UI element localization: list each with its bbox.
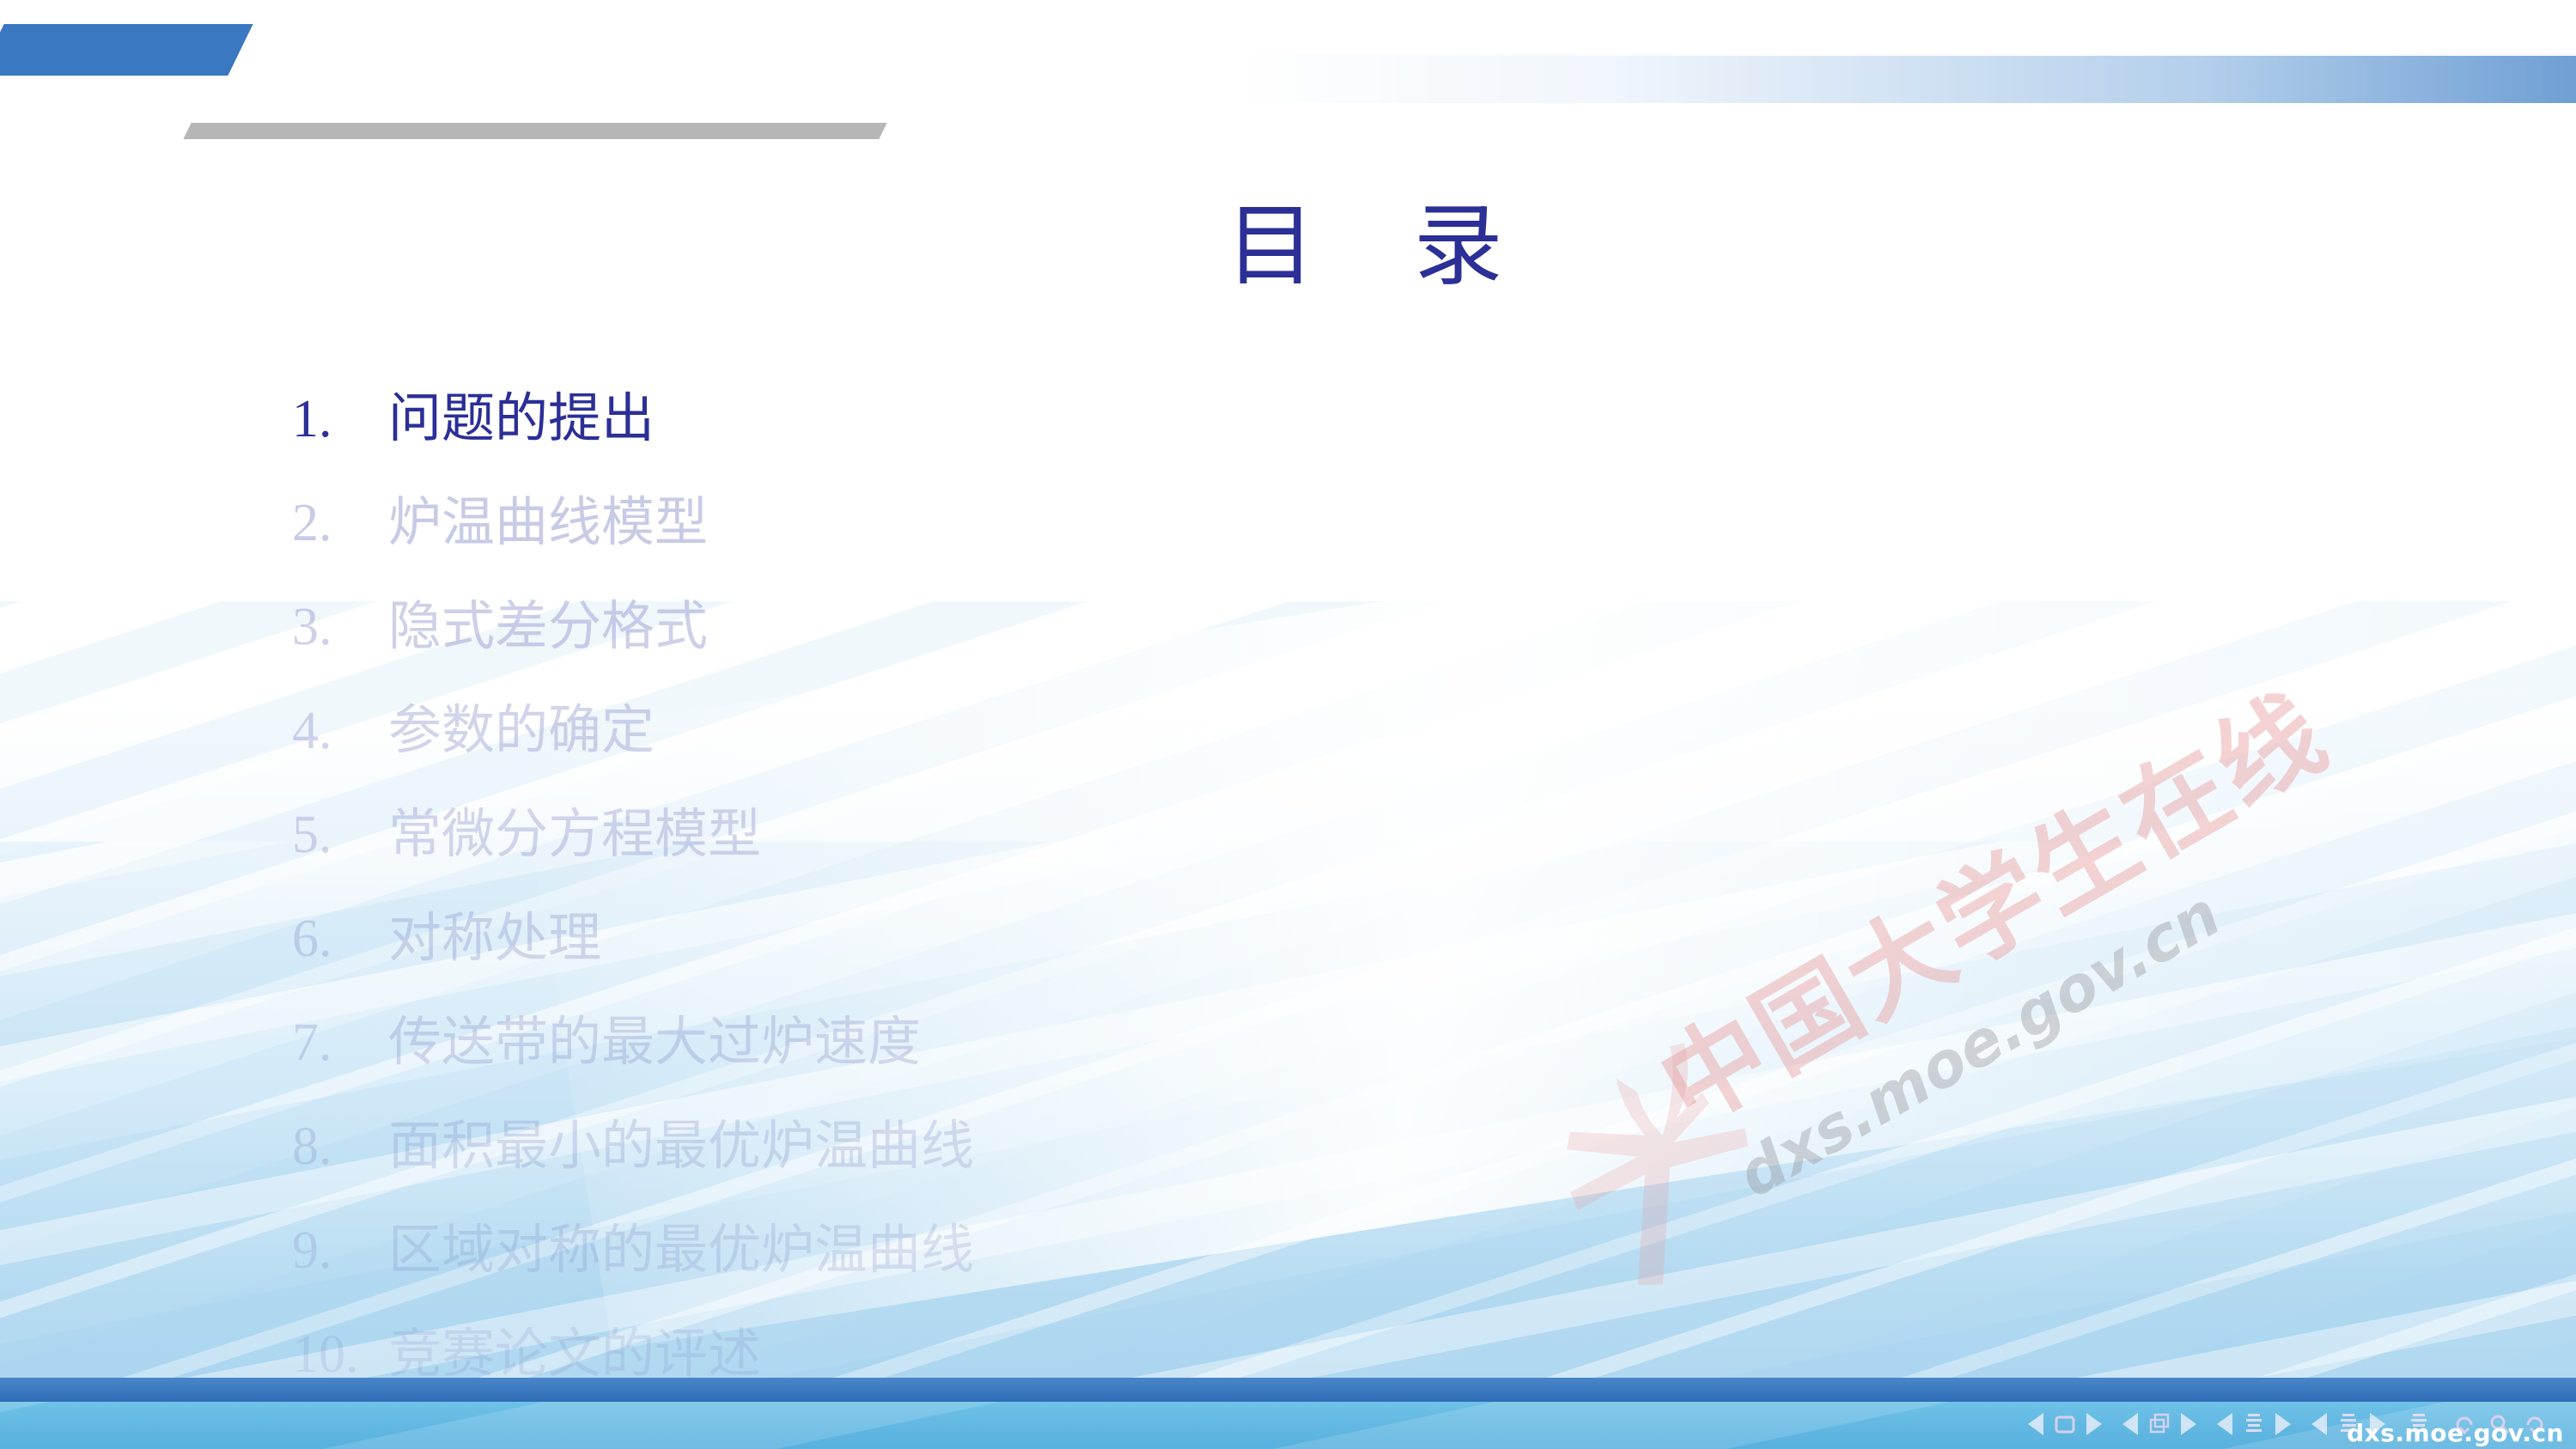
prev-slide-button[interactable]: [2028, 1413, 2043, 1435]
toc-item-6-label: 对称处理: [388, 887, 601, 991]
toc-item-7-label: 传送带的最大过炉速度: [388, 991, 921, 1095]
stacked-pages-icon[interactable]: [2147, 1411, 2172, 1437]
toc-item-8[interactable]: 8. 面积最小的最优炉温曲线: [292, 1095, 2182, 1199]
header-gray-bar: [183, 123, 886, 139]
toc-item-5[interactable]: 5. 常微分方程模型: [292, 783, 2182, 887]
toc-item-7[interactable]: 7. 传送带的最大过炉速度: [292, 991, 2182, 1095]
toc-item-2-number: 2.: [292, 472, 388, 575]
toc-item-5-number: 5.: [292, 783, 388, 887]
slide-nav-group: [2028, 1411, 2102, 1437]
toc-item-8-number: 8.: [292, 1095, 388, 1199]
toc-item-3-number: 3.: [292, 575, 388, 679]
toc-item-6[interactable]: 6. 对称处理: [292, 887, 2182, 991]
toc-item-5-label: 常微分方程模型: [388, 783, 761, 887]
toc-item-7-number: 7.: [292, 991, 388, 1095]
toc-item-3[interactable]: 3. 隐式差分格式: [292, 575, 2182, 679]
toc-item-4[interactable]: 4. 参数的确定: [292, 679, 2182, 783]
toc-item-9[interactable]: 9. 区域对称的最优炉温曲线: [292, 1199, 2182, 1303]
next-page-button[interactable]: [2181, 1413, 2196, 1435]
prev-outline-button[interactable]: [2217, 1413, 2232, 1435]
toc-item-4-number: 4.: [292, 679, 388, 783]
toc-item-4-label: 参数的确定: [388, 679, 655, 783]
outline-nav-group: [2217, 1411, 2291, 1437]
footer-url: dxs.moe.gov.cn: [2347, 1419, 2564, 1447]
toc-item-9-label: 区域对称的最优炉温曲线: [388, 1199, 974, 1303]
header-gradient-band: [1236, 53, 2576, 103]
toc-item-1[interactable]: 1. 问题的提出: [292, 368, 2182, 472]
page-nav-group: [2122, 1411, 2196, 1437]
outline-lines-icon[interactable]: [2241, 1411, 2267, 1437]
page-title: 目 录: [0, 203, 2576, 292]
toc-item-2[interactable]: 2. 炉温曲线模型: [292, 472, 2182, 575]
toc-item-2-label: 炉温曲线模型: [388, 472, 708, 575]
toc-item-3-label: 隐式差分格式: [388, 575, 708, 679]
next-outline-button[interactable]: [2275, 1413, 2291, 1435]
next-slide-button[interactable]: [2086, 1413, 2102, 1435]
toc-item-8-label: 面积最小的最优炉温曲线: [388, 1095, 974, 1199]
toc-item-1-label: 问题的提出: [388, 368, 655, 472]
prev-page-button[interactable]: [2122, 1413, 2138, 1435]
header-gradient-edge: [1236, 53, 2576, 56]
header-blue-parallelogram: [0, 24, 219, 76]
rectangle-icon[interactable]: [2052, 1411, 2078, 1437]
toc-item-6-number: 6.: [292, 887, 388, 991]
presentation-slide: 目 录 1. 问题的提出 2. 炉温曲线模型 3. 隐式差分格式 4. 参数的确…: [0, 0, 2576, 1449]
footer-blue-bar: [0, 1378, 2576, 1402]
prev-notes-button[interactable]: [2311, 1413, 2327, 1435]
table-of-contents: 1. 问题的提出 2. 炉温曲线模型 3. 隐式差分格式 4. 参数的确定 5.…: [292, 368, 2182, 1407]
toc-item-9-number: 9.: [292, 1199, 388, 1303]
toc-item-1-number: 1.: [292, 368, 388, 472]
